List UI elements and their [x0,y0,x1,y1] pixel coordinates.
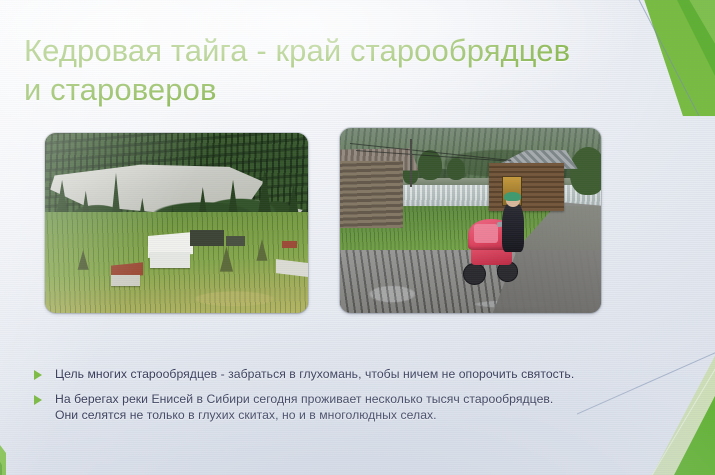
bullet-line-2: Они селятся не только в глухих скитах, н… [55,407,553,423]
image-aerial-taiga-village [45,133,308,313]
bullet-text: На берегах реки Енисей в Сибири сегодня … [55,391,553,423]
bullet-list: Цель многих старообрядцев - забраться в … [34,366,684,433]
bullet-text: Цель многих старообрядцев - забраться в … [55,366,574,382]
title-line-2: и староверов [24,70,664,109]
corner-bottom-left-decoration [0,431,23,475]
aerial-taiga-village-canvas [45,133,308,313]
list-item: Цель многих старообрядцев - забраться в … [34,366,684,382]
page-title: Кедровая тайга - край старообрядцев и ст… [24,31,664,110]
presentation-slide: Кедровая тайга - край старообрядцев и ст… [0,0,715,475]
list-item: На берегах реки Енисей в Сибири сегодня … [34,391,684,423]
woman-with-pram-canvas [340,128,601,313]
triangle-bullet-icon [34,395,42,405]
triangle-bullet-icon [34,370,42,380]
image-woman-with-pram-village [340,128,601,313]
bullet-line-1: Цель многих старообрядцев - забраться в … [55,367,574,381]
title-line-1: Кедровая тайга - край старообрядцев [24,31,664,70]
bullet-line-1: На берегах реки Енисей в Сибири сегодня … [55,392,553,406]
